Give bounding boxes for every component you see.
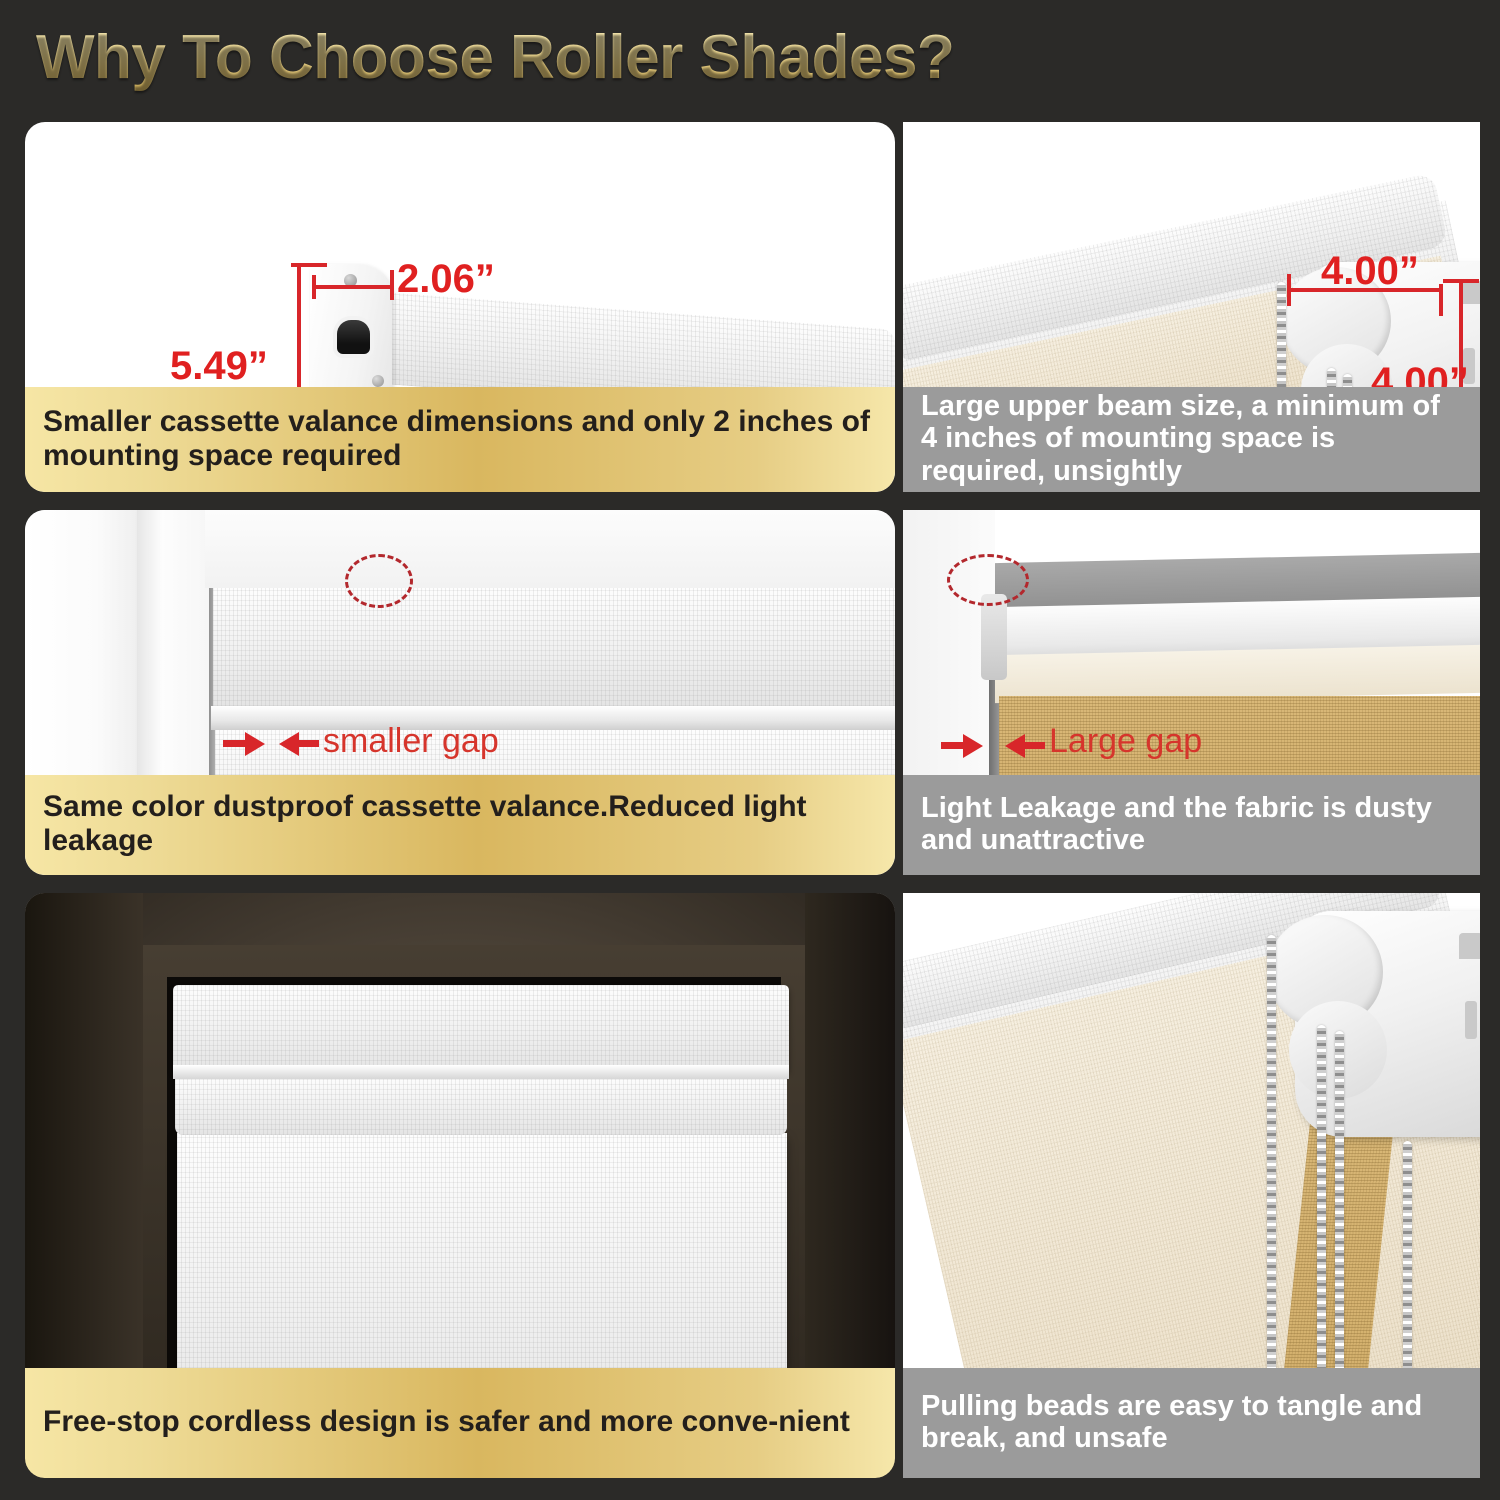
bead-chain — [1317, 1025, 1326, 1373]
gap-label: Large gap — [1049, 722, 1202, 761]
bracket-slot-icon — [1465, 1001, 1477, 1039]
bead-chain — [1335, 1031, 1344, 1373]
panel-smaller-gap: smaller gap Same color dustproof cassett… — [25, 510, 895, 875]
end-bracket — [981, 594, 1007, 680]
title-bar: Why To Choose Roller Shades? — [0, 0, 1500, 110]
window-reveal — [205, 510, 895, 588]
panel-large-beam: 4.00” 4.00” Large upper beam size, a min… — [903, 122, 1480, 492]
gap-arrow-right-head — [1005, 734, 1025, 758]
roller-tube — [175, 1077, 787, 1135]
panel-caption: Smaller cassette valance dimensions and … — [25, 387, 895, 492]
panel-pull-beads: Pulling beads are easy to tangle and bre… — [903, 893, 1480, 1478]
dim-width-tick-left — [1287, 274, 1291, 306]
gap-arrow-left-head — [245, 732, 265, 756]
dimension-label-height: 5.49” — [170, 344, 268, 389]
dimension-label-width: 4.00” — [1321, 249, 1419, 294]
panel-cordless: Free-stop cordless design is safer and m… — [25, 893, 895, 1478]
gap-arrow-left-head — [963, 734, 983, 758]
bead-chain — [1403, 1141, 1412, 1373]
gap-arrow-right-shaft — [1023, 742, 1045, 749]
beam-under-edge — [995, 645, 1480, 703]
panel-caption: Light Leakage and the fabric is dusty an… — [903, 775, 1480, 875]
cassette-rail — [211, 706, 895, 730]
bracket-slot-icon — [1459, 933, 1480, 959]
dim-width-line — [314, 285, 392, 289]
gap-arrow-right-shaft — [297, 740, 319, 747]
panel-caption: Free-stop cordless design is safer and m… — [25, 1368, 895, 1478]
cassette-bracket-slot — [337, 320, 370, 354]
gap-arrow-right-head — [279, 732, 299, 756]
cassette-valance — [213, 588, 895, 706]
panel-cassette-dimensions: 2.06” 5.49” Smaller cassette valance dim… — [25, 122, 895, 492]
dim-width-tick-right — [390, 270, 394, 300]
bead-chain — [1267, 935, 1276, 1375]
gap-label: smaller gap — [323, 722, 499, 761]
highlight-circle-icon — [947, 554, 1029, 606]
page-title: Why To Choose Roller Shades? — [36, 22, 954, 93]
screw-icon — [372, 375, 384, 387]
dim-height-tick-top — [291, 263, 327, 267]
panel-large-gap: Large gap Light Leakage and the fabric i… — [903, 510, 1480, 875]
dim-height-tick-top — [1443, 279, 1479, 283]
panel-caption: Same color dustproof cassette valance.Re… — [25, 775, 895, 875]
dim-width-tick-left — [312, 275, 316, 299]
dimension-label-width: 2.06” — [397, 257, 495, 302]
highlight-circle-icon — [345, 554, 413, 608]
panel-caption: Large upper beam size, a minimum of 4 in… — [903, 387, 1480, 492]
dim-width-tick-right — [1439, 284, 1443, 316]
panel-caption: Pulling beads are easy to tangle and bre… — [903, 1368, 1480, 1478]
cassette-valance — [173, 985, 789, 1071]
cassette-trim-bar — [173, 1065, 789, 1079]
